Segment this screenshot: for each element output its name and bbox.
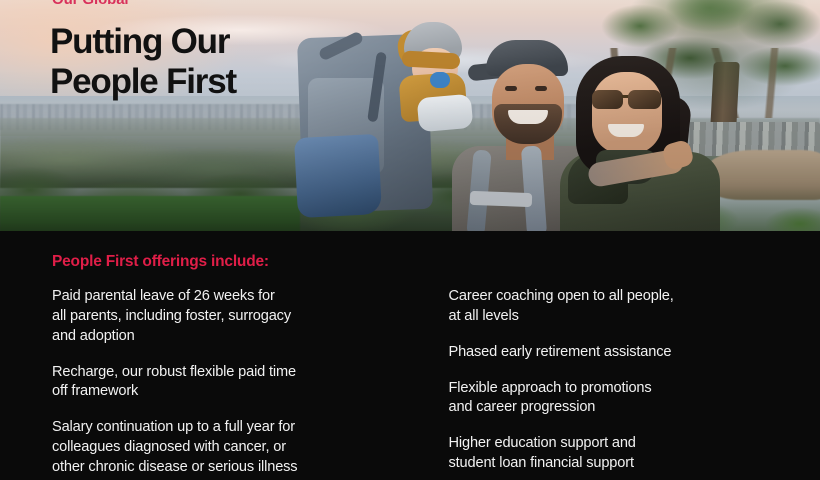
baby-bib: [417, 94, 474, 133]
sunglasses-lens-left: [592, 90, 623, 109]
list-item: Recharge, our robust flexible paid time …: [52, 363, 396, 403]
list-item: Flexible approach to promotions and care…: [449, 379, 793, 419]
sunglasses-lens-right: [628, 90, 661, 109]
carrier-blue-pack: [294, 134, 382, 218]
father-smile: [508, 110, 548, 124]
list-item: Higher education support and student loa…: [449, 434, 793, 474]
list-item: Paid parental leave of 26 weeks for all …: [52, 287, 396, 347]
mother-smile: [608, 124, 644, 137]
hero-banner: Our Global Putting Our People First: [0, 0, 820, 231]
list-item: Salary continuation up to a full year fo…: [52, 418, 396, 478]
father-eye-right: [535, 86, 547, 91]
father-eye-left: [505, 86, 517, 91]
sunglasses-icon: [592, 90, 662, 109]
offerings-column-left: Paid parental leave of 26 weeks for all …: [52, 287, 396, 480]
list-item: Phased early retirement assistance: [449, 343, 793, 363]
offerings-panel: People First offerings include: Paid par…: [0, 231, 820, 480]
report-page: Our Global Putting Our People First Peop…: [0, 0, 820, 480]
page-title: Putting Our People First: [50, 22, 236, 103]
father-chest-buckle: [470, 191, 532, 207]
offerings-column-right: Career coaching open to all people, at a…: [449, 287, 793, 480]
baby-pacifier: [430, 72, 450, 88]
offerings-columns: Paid parental leave of 26 weeks for all …: [52, 287, 792, 480]
offerings-heading: People First offerings include:: [52, 253, 269, 271]
eyebrow-label: Our Global: [52, 0, 129, 8]
list-item: Career coaching open to all people, at a…: [449, 287, 793, 327]
mother-face: [592, 72, 662, 154]
baby-hood-brim: [402, 50, 461, 69]
